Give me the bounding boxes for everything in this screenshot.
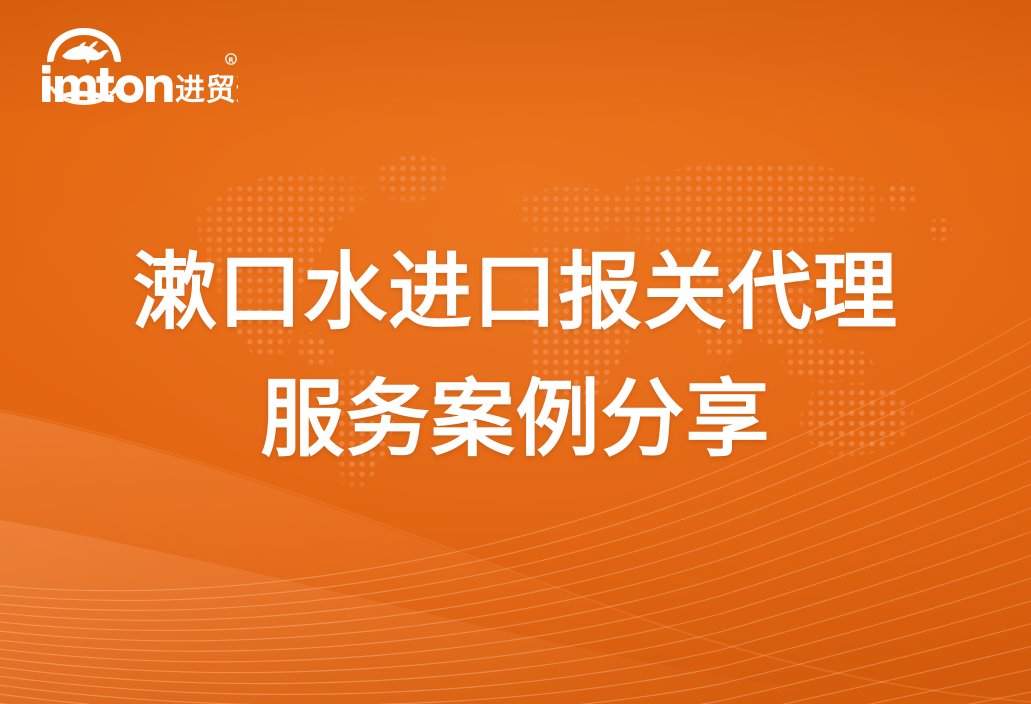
- headline: 漱口水进口报关代理 服务案例分享: [0, 238, 1031, 474]
- eagle-icon: [62, 41, 109, 64]
- logo-chinese-name: 进贸通: [175, 73, 238, 106]
- logo-wordmark: [42, 65, 173, 103]
- svg-text:R: R: [228, 56, 234, 64]
- headline-line-1: 漱口水进口报关代理: [0, 238, 1031, 347]
- logo[interactable]: 进贸通 R: [38, 26, 238, 106]
- svg-text:进贸通: 进贸通: [175, 73, 238, 106]
- registered-trademark-icon: R: [226, 54, 236, 65]
- headline-line-2: 服务案例分享: [0, 365, 1031, 474]
- banner-root: 进贸通 R 漱口水进口报关代理 服务案例分享: [0, 0, 1031, 704]
